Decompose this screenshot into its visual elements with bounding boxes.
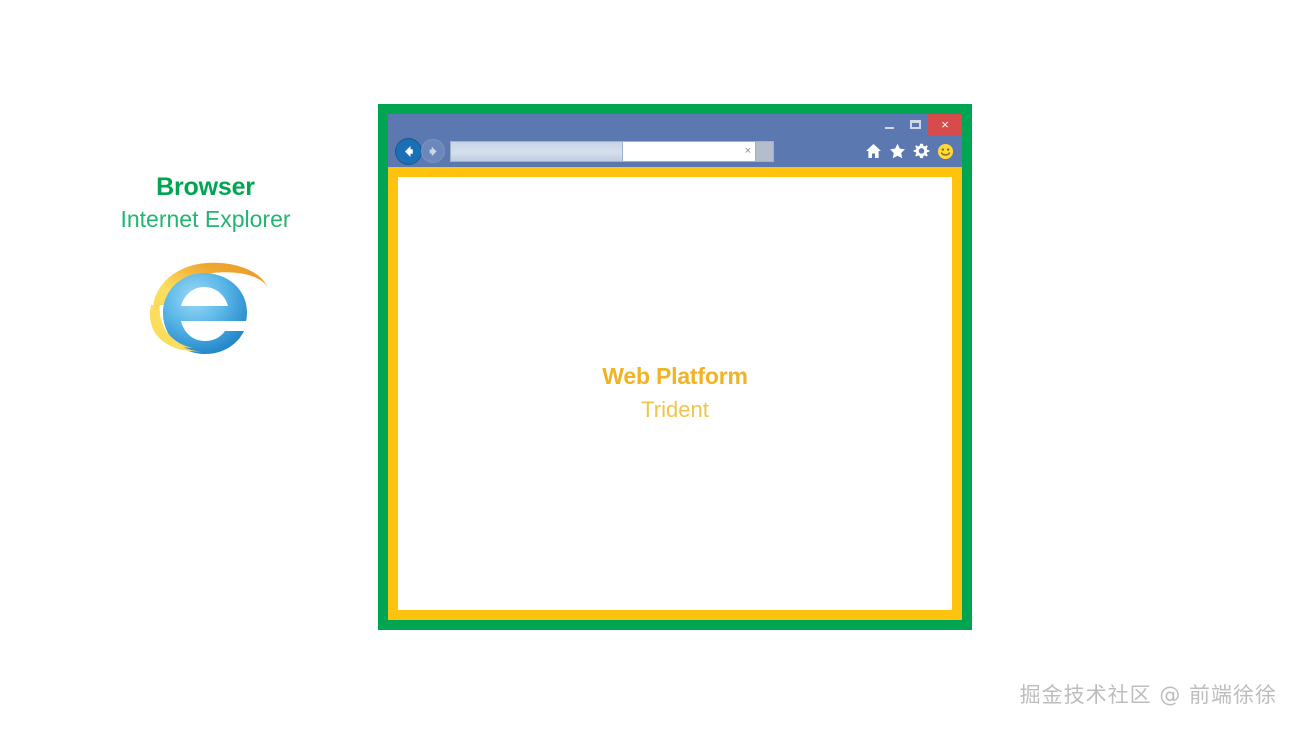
new-tab-button[interactable] [756,141,774,162]
tab-close-icon[interactable]: × [745,146,751,157]
forward-button[interactable] [422,140,444,162]
tools-gear-icon[interactable] [913,143,930,159]
browser-info-panel: Browser Internet Explorer [68,172,343,363]
back-button[interactable] [396,139,421,164]
browser-window: × × [378,104,972,630]
internet-explorer-logo-icon [141,253,271,363]
back-arrow-icon [401,144,416,159]
browser-name-label: Internet Explorer [68,203,343,236]
toolbar-icon-group [865,143,956,160]
watermark-text: 掘金技术社区 @ 前端徐徐 [1020,679,1277,709]
favorites-star-icon[interactable] [889,143,906,159]
forward-arrow-icon [427,145,440,158]
maximize-icon [910,120,921,129]
web-platform-title: Web Platform [602,362,747,392]
rendering-engine-label: Trident [641,394,709,426]
browser-chrome: × × [388,114,962,167]
maximize-button[interactable] [902,114,928,135]
browser-toolbar: × [388,135,962,167]
viewport-padding: Web Platform Trident [388,167,962,620]
minimize-icon [885,127,894,129]
minimize-button[interactable] [876,114,902,135]
browser-tab[interactable]: × [622,141,756,162]
window-controls: × [876,114,962,135]
internet-explorer-logo-wrap [68,253,343,363]
page-viewport: Web Platform Trident [398,177,952,610]
address-input[interactable] [450,141,622,162]
close-button[interactable]: × [928,114,962,135]
tab-strip: × [622,141,774,162]
browser-window-inner-frame: × × [388,114,962,620]
home-icon[interactable] [865,143,882,159]
page-title: Browser [68,172,343,203]
smiley-feedback-icon[interactable] [937,143,954,160]
